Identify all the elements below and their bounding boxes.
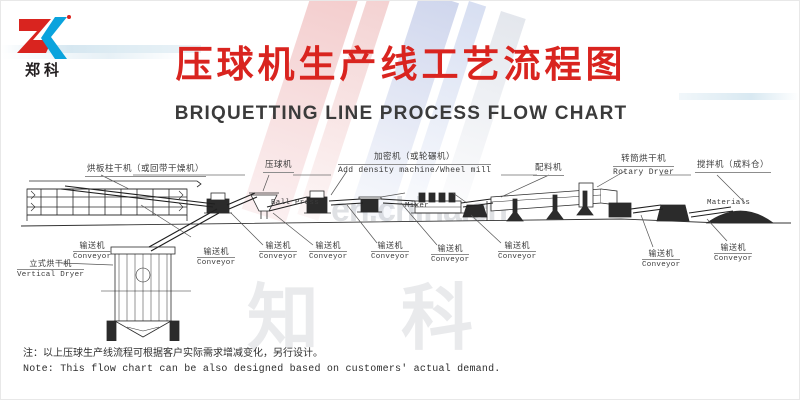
footer-note-en: Note: This flow chart can be also design… <box>23 362 623 378</box>
label-conveyor-cn: 输送机 <box>259 241 297 252</box>
label-conveyor-cn: 输送机 <box>73 241 111 252</box>
label-rotary-dryer-cn: 转筒烘干机 <box>613 155 674 167</box>
label-conveyor: 输送机 Conveyor <box>714 243 752 264</box>
label-rotary-dryer-en: Rotary Dryer <box>613 167 674 177</box>
label-mixer-silo-cn: 搅拌机（成料仓） <box>695 161 771 173</box>
plate-dryer-equipment <box>27 181 201 221</box>
label-conveyor-en: Conveyor <box>498 252 536 262</box>
label-density-mill-cn: 加密机（或轮碾机） <box>338 153 491 165</box>
label-conveyor-cn: 输送机 <box>309 241 347 252</box>
label-conveyor-en: Conveyor <box>371 252 409 262</box>
footer-note: 注：以上压球生产线流程可根据客户实际需求增减变化，另行设计。 Note: Thi… <box>23 346 623 377</box>
decorative-band-right <box>679 93 799 100</box>
label-conveyor-en: Conveyor <box>259 252 297 262</box>
label-mixer-silo: 搅拌机（成料仓） <box>695 161 771 173</box>
label-conveyor: 输送机 Conveyor <box>197 247 235 268</box>
label-ball-press-en: Ball Press <box>271 198 319 208</box>
label-materials-en-wrap: Materials <box>707 198 750 208</box>
label-conveyor-cn: 输送机 <box>197 247 235 258</box>
label-conveyor: 输送机 Conveyor <box>431 244 469 265</box>
label-rotary-dryer: 转筒烘干机 Rotary Dryer <box>613 155 674 177</box>
label-vertical-dryer-en: Vertical Dryer <box>17 270 84 280</box>
label-conveyor-en: Conveyor <box>642 260 680 270</box>
label-ball-press: 压球机 <box>263 161 294 173</box>
label-conveyor: 输送机 Conveyor <box>309 241 347 262</box>
label-conveyor: 输送机 Conveyor <box>259 241 297 262</box>
label-conveyor: 输送机 Conveyor <box>498 241 536 262</box>
flow-chart-page: 郑科 压球机生产线工艺流程图 BRIQUETTING LINE PROCESS … <box>0 0 800 400</box>
vertical-dryer-equipment <box>101 247 191 341</box>
label-conveyor-en: Conveyor <box>309 252 347 262</box>
label-plate-dryer: 烘板柱干机（或回带干燥机） <box>85 165 206 177</box>
label-conveyor-cn: 输送机 <box>371 241 409 252</box>
footer-note-cn: 注：以上压球生产线流程可根据客户实际需求增减变化，另行设计。 <box>23 346 623 362</box>
label-ball-press-en-wrap: Ball Press <box>271 198 319 208</box>
label-conveyor-cn: 输送机 <box>714 243 752 254</box>
label-ball-press-cn: 压球机 <box>263 161 294 173</box>
label-mixer: Mixer <box>405 201 429 211</box>
page-title-en: BRIQUETTING LINE PROCESS FLOW CHART <box>1 103 800 125</box>
label-conveyor: 输送机 Conveyor <box>371 241 409 262</box>
label-density-mill-en: Add density machine/Wheel mill <box>338 165 491 175</box>
label-batching-cn: 配料机 <box>533 164 564 176</box>
label-materials-en: Materials <box>707 198 750 208</box>
label-conveyor-en: Conveyor <box>714 254 752 264</box>
label-conveyor-en: Conveyor <box>73 252 111 262</box>
label-density-mill: 加密机（或轮碾机） Add density machine/Wheel mill <box>338 153 491 175</box>
label-batching: 配料机 <box>533 164 564 176</box>
rotary-dryer-equipment <box>487 183 631 221</box>
label-conveyor: 输送机 Conveyor <box>642 249 680 270</box>
label-conveyor-en: Conveyor <box>197 258 235 268</box>
material-hopper-equipment <box>657 205 689 221</box>
label-conveyor: 输送机 Conveyor <box>73 241 111 262</box>
label-conveyor-cn: 输送机 <box>642 249 680 260</box>
page-title-cn: 压球机生产线工艺流程图 <box>1 43 800 87</box>
label-conveyor-en: Conveyor <box>431 255 469 265</box>
label-mixer-en: Mixer <box>405 201 429 211</box>
label-vertical-dryer: 立式烘干机 Vertical Dryer <box>17 259 84 280</box>
label-conveyor-cn: 输送机 <box>431 244 469 255</box>
label-conveyor-cn: 输送机 <box>498 241 536 252</box>
label-plate-dryer-cn: 烘板柱干机（或回带干燥机） <box>85 165 206 177</box>
